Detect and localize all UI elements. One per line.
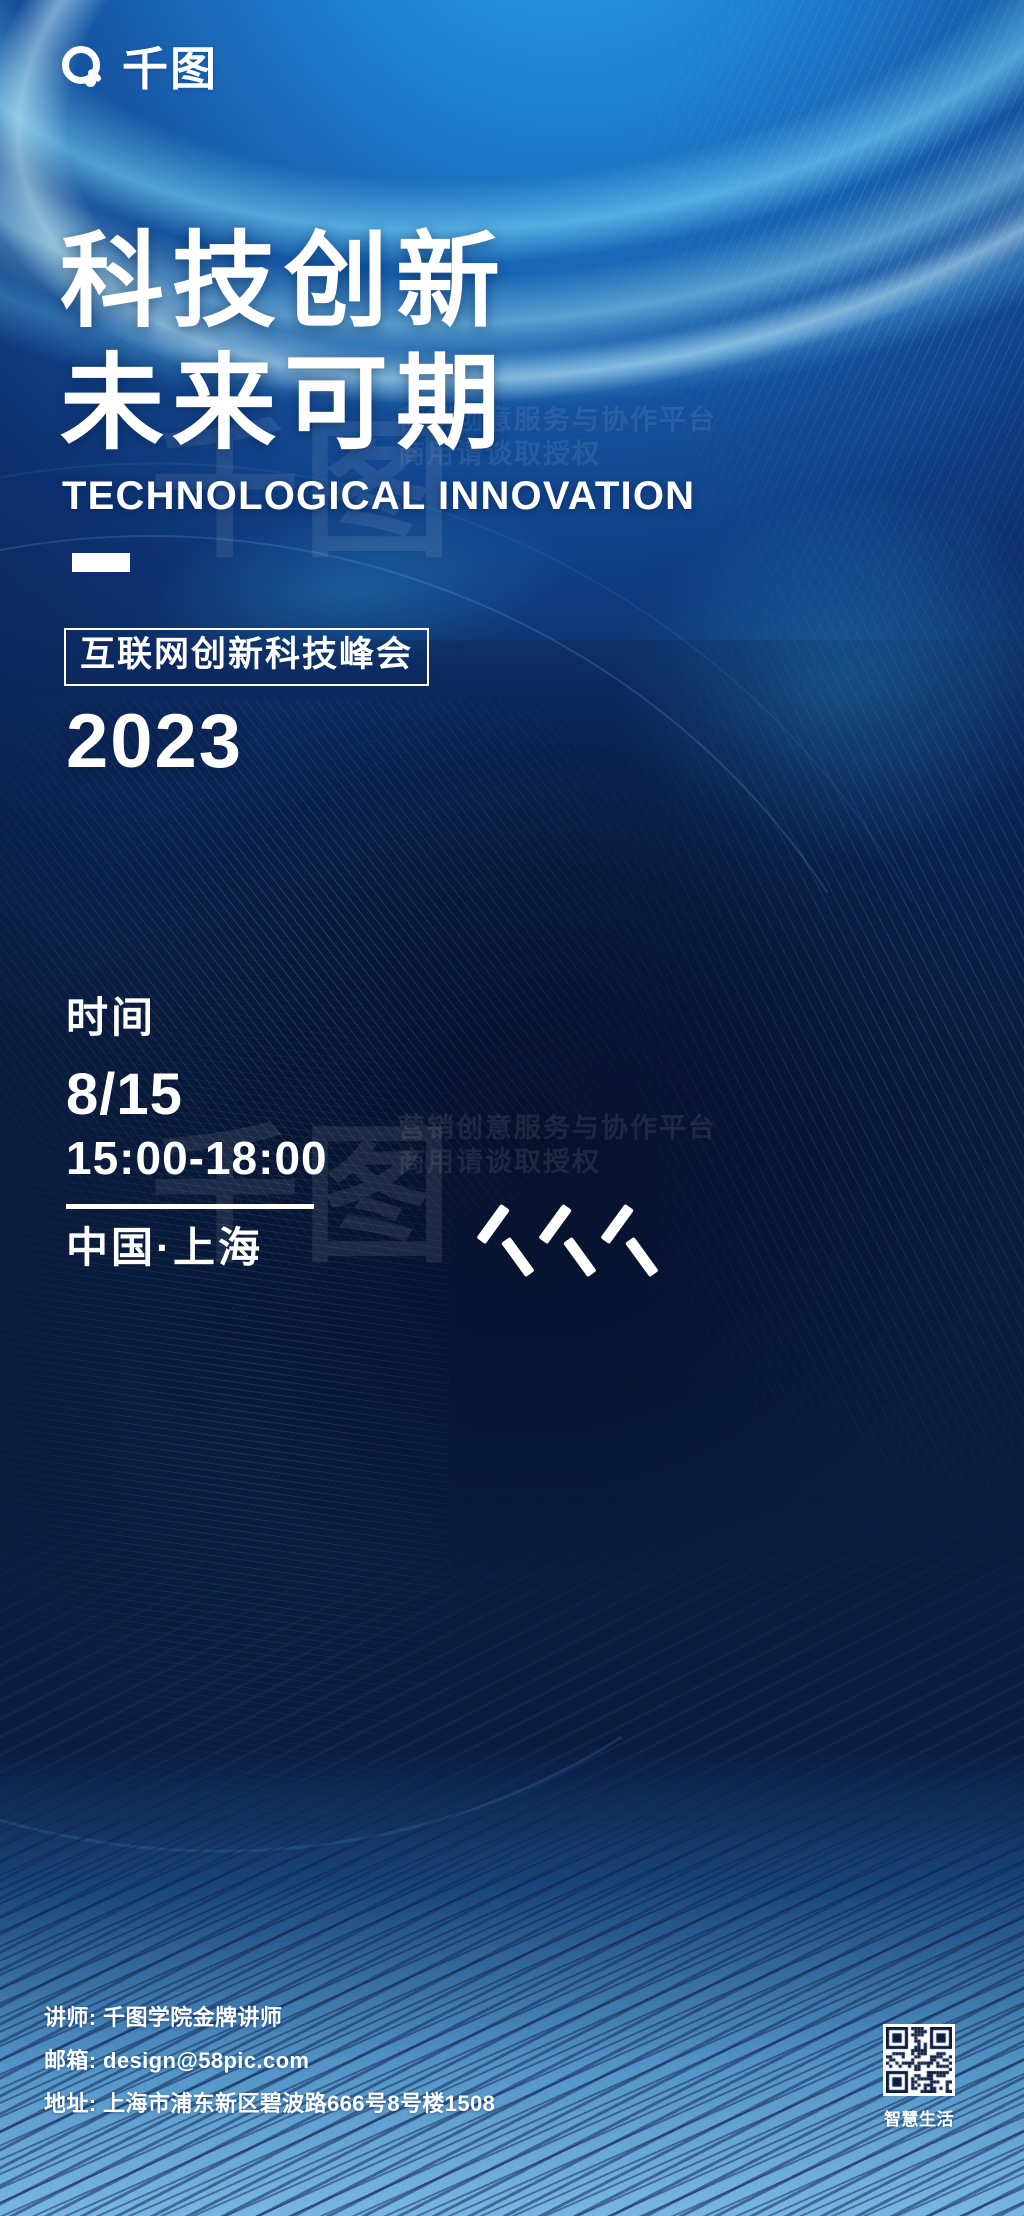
footer-speaker: 讲师: 千图学院金牌讲师: [44, 1997, 495, 2040]
event-date: 8/15: [66, 1065, 328, 1126]
qr-caption: 智慧生活: [876, 2105, 962, 2130]
time-label: 时间: [66, 992, 328, 1045]
footer-contact: 讲师: 千图学院金牌讲师 邮箱: design@58pic.com 地址: 上海…: [44, 1997, 495, 2126]
event-tag-box: 互联网创新科技峰会: [64, 628, 429, 686]
hero-title-line-1: 科技创新: [60, 222, 508, 344]
chevron-left-icon: [548, 1205, 588, 1277]
brand-name: 千图: [122, 46, 218, 92]
hero-title-line-2: 未来可期: [60, 344, 508, 466]
poster-canvas: 千图 营销创意服务与协作平台 商用请谈取授权 千图 营销创意服务与协作平台 商用…: [0, 0, 1024, 2216]
qr-block[interactable]: 智慧生活: [876, 2024, 962, 2130]
chevron-decoration: [486, 1205, 650, 1277]
footer-email: 邮箱: design@58pic.com: [44, 2040, 495, 2083]
qr-code-icon[interactable]: [883, 2024, 955, 2096]
event-location: 中国·上海: [66, 1223, 328, 1273]
event-year: 2023: [66, 698, 243, 785]
event-tag-label: 互联网创新科技峰会: [80, 635, 413, 674]
chevron-left-icon: [610, 1205, 650, 1277]
event-time-range: 15:00-18:00: [66, 1133, 328, 1184]
divider-dash: [72, 553, 130, 572]
line-texture-bottom-2: [0, 1656, 1024, 2216]
qiantu-q-icon: [62, 46, 108, 92]
chevron-left-icon: [486, 1205, 526, 1277]
brand-logo[interactable]: 千图: [62, 46, 218, 92]
hero-title: 科技创新 未来可期: [60, 222, 508, 465]
info-divider: [66, 1204, 314, 1209]
event-info: 时间 8/15 15:00-18:00 中国·上海: [66, 992, 328, 1273]
hero-subtitle-en: TECHNOLOGICAL INNOVATION: [62, 474, 695, 519]
footer-address: 地址: 上海市浦东新区碧波路666号8号楼1508: [44, 2083, 495, 2126]
